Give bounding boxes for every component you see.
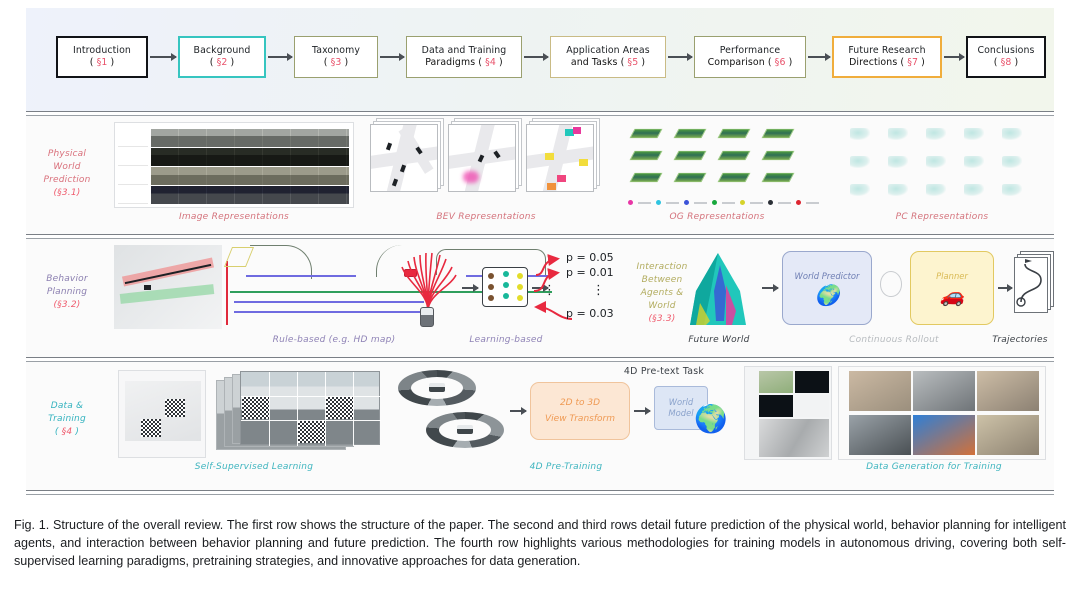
image-strip-4 (151, 186, 349, 204)
paper-structure-row: Introduction ( §1 ) Background ( §2 ) Ta… (26, 8, 1054, 111)
arrow-pc-to-transform (510, 410, 526, 412)
row-label-line2: World (32, 161, 102, 174)
og-legend (628, 200, 819, 205)
flow-box-section: Directions ( §7 ) (849, 57, 925, 69)
flow-arrow-1 (150, 56, 176, 58)
world-predictor-block[interactable]: World Predictor 🌍 (782, 251, 872, 325)
world-model-line1: World (669, 397, 694, 408)
probability-curve-arrows (526, 253, 586, 333)
flow-box-section: ( §8 ) (994, 57, 1019, 69)
pc-tile (926, 156, 946, 168)
flow-box-background[interactable]: Background ( §2 ) (178, 36, 266, 78)
flow-box-performance-comparison[interactable]: Performance Comparison ( §6 ) (694, 36, 806, 78)
og-tile (762, 129, 795, 138)
og-tile (718, 129, 751, 138)
arrow-future-world-to-predictor (762, 287, 778, 289)
pc-tile (850, 156, 870, 168)
row-label-behavior-planning: Behavior Planning (§3.2) (32, 273, 102, 312)
og-tile (630, 129, 663, 138)
flow-box-section: ( §1 ) (90, 57, 115, 69)
bev-card-1 (370, 124, 438, 192)
og-tile (762, 151, 795, 160)
divider-4b (26, 494, 1054, 495)
trajectory-fan (398, 249, 458, 327)
pc-tile (1002, 184, 1022, 196)
probability-value-1: p = 0.05 (566, 251, 614, 264)
hd-map-thumbnail (114, 245, 222, 329)
og-tile (630, 173, 663, 182)
image-strip-1 (151, 129, 349, 147)
row-label-section: ( §4 ) (32, 426, 102, 439)
flow-box-introduction[interactable]: Introduction ( §1 ) (56, 36, 148, 78)
arrow-fan-to-network (462, 287, 478, 289)
continuous-rollout-icon (880, 271, 902, 297)
pc-tile (850, 128, 870, 140)
og-tile (674, 151, 707, 160)
view-transform-line2: View Transform (545, 413, 615, 425)
mask-patch (141, 419, 161, 437)
divider-4 (26, 490, 1054, 491)
flow-box-section: ( §2 ) (210, 57, 235, 69)
data-and-training-row: Data & Training ( §4 ) (26, 362, 1054, 490)
trajectories-stack (1014, 257, 1048, 313)
caption-trajectories: Trajectories (986, 335, 1054, 345)
flow-box-title: Data and Training (422, 45, 507, 57)
caption-4d-pretraining: 4D Pre-Training (506, 462, 626, 472)
pc-tile (888, 156, 908, 168)
flow-box-title: Background (194, 45, 251, 57)
caption-image-representations: Image Representations (114, 212, 354, 222)
row-label-line2: Training (32, 413, 102, 426)
row-label-line2: Planning (32, 286, 102, 299)
og-tile (762, 173, 795, 182)
flow-arrow-6 (808, 56, 830, 58)
view-transform-line1: 2D to 3D (560, 397, 600, 409)
flow-box-title: Introduction (73, 45, 131, 57)
og-representations-group (626, 122, 806, 206)
world-predictor-icons: 🌍 (815, 285, 840, 305)
pc-tile (964, 156, 984, 168)
row-label-section: (§3.1) (32, 187, 102, 200)
divider-2 (26, 234, 1054, 235)
og-tile (630, 151, 663, 160)
flow-box-title: Application Areas (566, 45, 650, 57)
pc-tile (964, 184, 984, 196)
probability-value-3: p = 0.03 (566, 307, 614, 320)
image-representations-panel (114, 122, 354, 208)
trajectory-path-icon (1015, 258, 1047, 312)
pc-tile (964, 128, 984, 140)
row-label-line1: Behavior (32, 273, 102, 286)
data-generation-left-panel (744, 366, 832, 460)
og-tile (718, 173, 751, 182)
caption-future-world: Future World (674, 335, 764, 345)
caption-continuous-rollout: Continuous Rollout (846, 335, 942, 345)
flow-box-title: Taxonomy (312, 45, 360, 57)
planner-block[interactable]: Planner 🚗 (910, 251, 994, 325)
row-label-line1: Data & (32, 400, 102, 413)
og-tile (718, 151, 751, 160)
mask-patch (165, 399, 185, 417)
flow-box-section: and Tasks ( §5 ) (571, 57, 645, 69)
flow-box-section: Paradigms ( §4 ) (425, 57, 503, 69)
flow-box-title: Future Research (848, 45, 925, 57)
image-strip-2 (151, 148, 349, 166)
figure-caption: Fig. 1. Structure of the overall review.… (14, 517, 1066, 571)
masked-frame-front (240, 371, 380, 445)
neural-network-block (482, 267, 528, 307)
future-world-icon (680, 251, 756, 327)
row-label-physical-world-prediction: Physical World Prediction (§3.1) (32, 148, 102, 200)
flow-box-conclusions[interactable]: Conclusions ( §8 ) (966, 36, 1046, 78)
mask-patch (298, 421, 325, 443)
behavior-planning-row: Behavior Planning (§3.2) Rule-based (e.g… (26, 239, 1054, 357)
physical-world-prediction-row: Physical World Prediction (§3.1) Image R… (26, 116, 1054, 234)
flow-box-future-research-directions[interactable]: Future Research Directions ( §7 ) (832, 36, 942, 78)
pc-tile (926, 184, 946, 196)
flow-arrow-2 (268, 56, 292, 58)
flow-box-taxonomy[interactable]: Taxonomy ( §3 ) (294, 36, 378, 78)
row-label-line1: Physical (32, 148, 102, 161)
flow-box-section: Comparison ( §6 ) (708, 57, 793, 69)
caption-learning-based: Learning-based (466, 335, 546, 345)
probability-ellipsis-left: ⋮ (543, 283, 556, 298)
caption-pc-representations: PC Representations (842, 212, 1042, 222)
pc-tile (888, 128, 908, 140)
og-tile (674, 129, 707, 138)
pc-tile (926, 128, 946, 140)
caption-bev-representations: BEV Representations (370, 212, 602, 222)
divider-3 (26, 357, 1054, 358)
flow-arrow-5 (668, 56, 692, 58)
future-world-visualization (680, 251, 756, 327)
flow-box-application-areas-and-tasks[interactable]: Application Areas and Tasks ( §5 ) (550, 36, 666, 78)
occupancy-axis-label (746, 371, 756, 413)
pc-tile (888, 184, 908, 196)
view-transform-block[interactable]: 2D to 3D View Transform (530, 382, 630, 440)
point-cloud-ring-1 (398, 370, 476, 406)
image-strip-3 (151, 167, 349, 185)
planner-icon: 🚗 (940, 285, 965, 305)
flow-arrow-7 (944, 56, 964, 58)
planner-label: Planner (936, 271, 968, 282)
row-label-data-and-training: Data & Training ( §4 ) (32, 400, 102, 439)
arrow-planner-to-trajectories (998, 287, 1012, 289)
divider-1 (26, 111, 1054, 112)
flow-box-title: Performance (720, 45, 781, 57)
row-label-line3: Prediction (32, 174, 102, 187)
world-predictor-label: World Predictor (795, 271, 860, 282)
flow-arrow-3 (380, 56, 404, 58)
bev-card-2 (448, 124, 516, 192)
flow-arrow-4 (524, 56, 548, 58)
masked-image-single (118, 370, 206, 458)
pc-representations-group (846, 126, 1036, 206)
pc-tile (1002, 128, 1022, 140)
masked-video-stack (216, 366, 386, 458)
caption-data-generation-for-training: Data Generation for Training (816, 462, 1052, 472)
pc-tile (1002, 156, 1022, 168)
probability-ellipsis-right: ⋮ (592, 283, 605, 298)
mask-patch (326, 397, 353, 419)
caption-4d-pretext-task: 4D Pre-text Task (604, 366, 724, 377)
caption-og-representations: OG Representations (622, 212, 812, 222)
row-label-section: (§3.2) (32, 299, 102, 312)
caption-self-supervised-learning: Self-Supervised Learning (118, 462, 390, 472)
image-strip-row-labels (118, 129, 148, 205)
bev-card-3 (526, 124, 594, 192)
probability-value-2: p = 0.01 (566, 266, 614, 279)
point-cloud-ring-2 (426, 412, 504, 448)
flow-box-section: ( §3 ) (324, 57, 349, 69)
world-model-line2: Model (668, 408, 693, 419)
pc-tile (850, 184, 870, 196)
flow-box-data-and-training-paradigms[interactable]: Data and Training Paradigms ( §4 ) (406, 36, 522, 78)
mask-patch (242, 397, 269, 419)
arrow-transform-to-world-model (634, 410, 650, 412)
flow-box-title: Conclusions (977, 45, 1034, 57)
data-generation-right-panel (838, 366, 1046, 460)
og-tile (674, 173, 707, 182)
figure-container: Introduction ( §1 ) Background ( §2 ) Ta… (26, 8, 1054, 508)
globe-icon: 🌍 (694, 406, 728, 433)
